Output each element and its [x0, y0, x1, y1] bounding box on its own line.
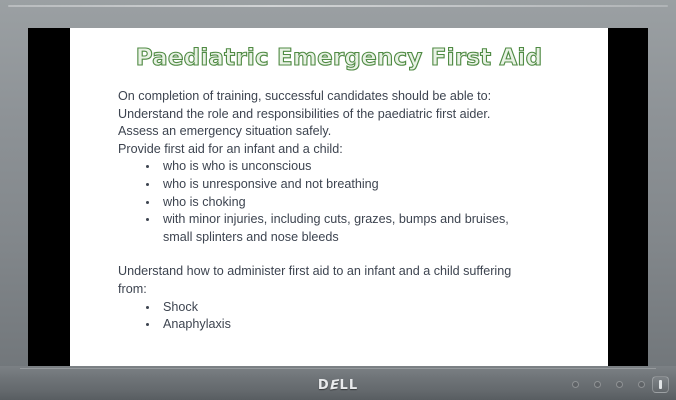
- dell-logo-ll: LL: [340, 378, 359, 393]
- osd-button-1[interactable]: [572, 381, 579, 388]
- second-paragraph-line-2: from:: [118, 281, 588, 299]
- intro-line-4: Provide first aid for an infant and a ch…: [118, 141, 588, 159]
- bullet-dot-icon: [146, 306, 149, 309]
- list-item: Shock: [118, 299, 588, 317]
- intro-line-3: Assess an emergency situation safely.: [118, 123, 588, 141]
- osd-button-4[interactable]: [638, 381, 645, 388]
- first-bullet-list: who is who is unconscious who is unrespo…: [118, 158, 588, 246]
- second-bullet-list: Shock Anaphylaxis: [118, 299, 588, 334]
- osd-button-2[interactable]: [594, 381, 601, 388]
- list-item-label: with minor injuries, including cuts, gra…: [163, 212, 509, 226]
- list-item: who is who is unconscious: [118, 158, 588, 176]
- intro-line-2: Understand the role and responsibilities…: [118, 106, 588, 124]
- power-icon: [659, 380, 662, 389]
- list-item: who is unresponsive and not breathing: [118, 176, 588, 194]
- presentation-slide: Paediatric Emergency First Aid On comple…: [70, 28, 608, 366]
- list-item: Anaphylaxis: [118, 316, 588, 334]
- list-item: who is choking: [118, 194, 588, 212]
- bezel-highlight: [8, 5, 668, 7]
- list-item-label: Shock: [163, 300, 198, 314]
- bullet-dot-icon: [146, 218, 149, 221]
- paragraph-spacer: [118, 246, 588, 263]
- monitor-screen: Paediatric Emergency First Aid On comple…: [28, 28, 648, 366]
- bezel-seam: [20, 368, 656, 369]
- bullet-dot-icon: [146, 165, 149, 168]
- slide-body: On completion of training, successful ca…: [118, 88, 588, 334]
- bullet-dot-icon: [146, 323, 149, 326]
- dell-monitor: Paediatric Emergency First Aid On comple…: [0, 0, 676, 400]
- second-paragraph-line-1: Understand how to administer first aid t…: [118, 263, 588, 281]
- osd-button-group[interactable]: [572, 381, 644, 389]
- bullet-dot-icon: [146, 201, 149, 204]
- power-button[interactable]: [652, 376, 669, 393]
- list-item-label: who is who is unconscious: [163, 159, 311, 173]
- bullet-dot-icon: [146, 183, 149, 186]
- list-item: with minor injuries, including cuts, gra…: [118, 211, 588, 246]
- list-item-label: Anaphylaxis: [163, 317, 231, 331]
- slide-title: Paediatric Emergency First Aid: [70, 45, 608, 71]
- list-item-label: who is choking: [163, 195, 246, 209]
- intro-line-1: On completion of training, successful ca…: [118, 88, 588, 106]
- osd-button-3[interactable]: [616, 381, 623, 388]
- list-item-label: who is unresponsive and not breathing: [163, 177, 379, 191]
- list-item-continuation: small splinters and nose bleeds: [163, 229, 588, 247]
